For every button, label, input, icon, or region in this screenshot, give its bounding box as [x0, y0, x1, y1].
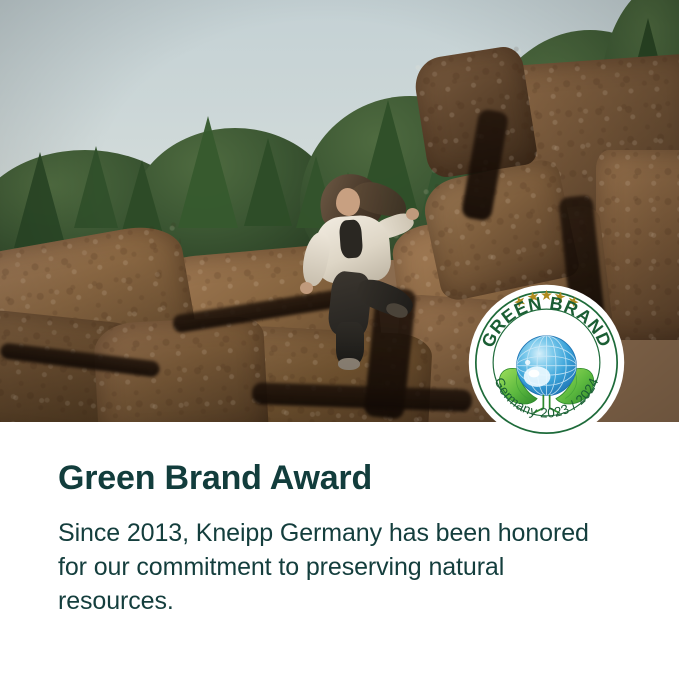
face	[336, 188, 360, 216]
text-block: Green Brand Award Since 2013, Kneipp Ger…	[0, 422, 679, 679]
body-text: Since 2013, Kneipp Germany has been hono…	[58, 516, 621, 618]
climber-figure	[298, 172, 418, 362]
page-title: Green Brand Award	[58, 460, 621, 496]
green-brand-award-card: GREEN BRAND	[0, 0, 679, 679]
right-hand	[406, 208, 419, 220]
dark-top	[339, 219, 364, 258]
green-brand-award-badge: GREEN BRAND	[468, 284, 625, 441]
left-hand	[300, 282, 313, 294]
shoe-back	[338, 358, 360, 370]
